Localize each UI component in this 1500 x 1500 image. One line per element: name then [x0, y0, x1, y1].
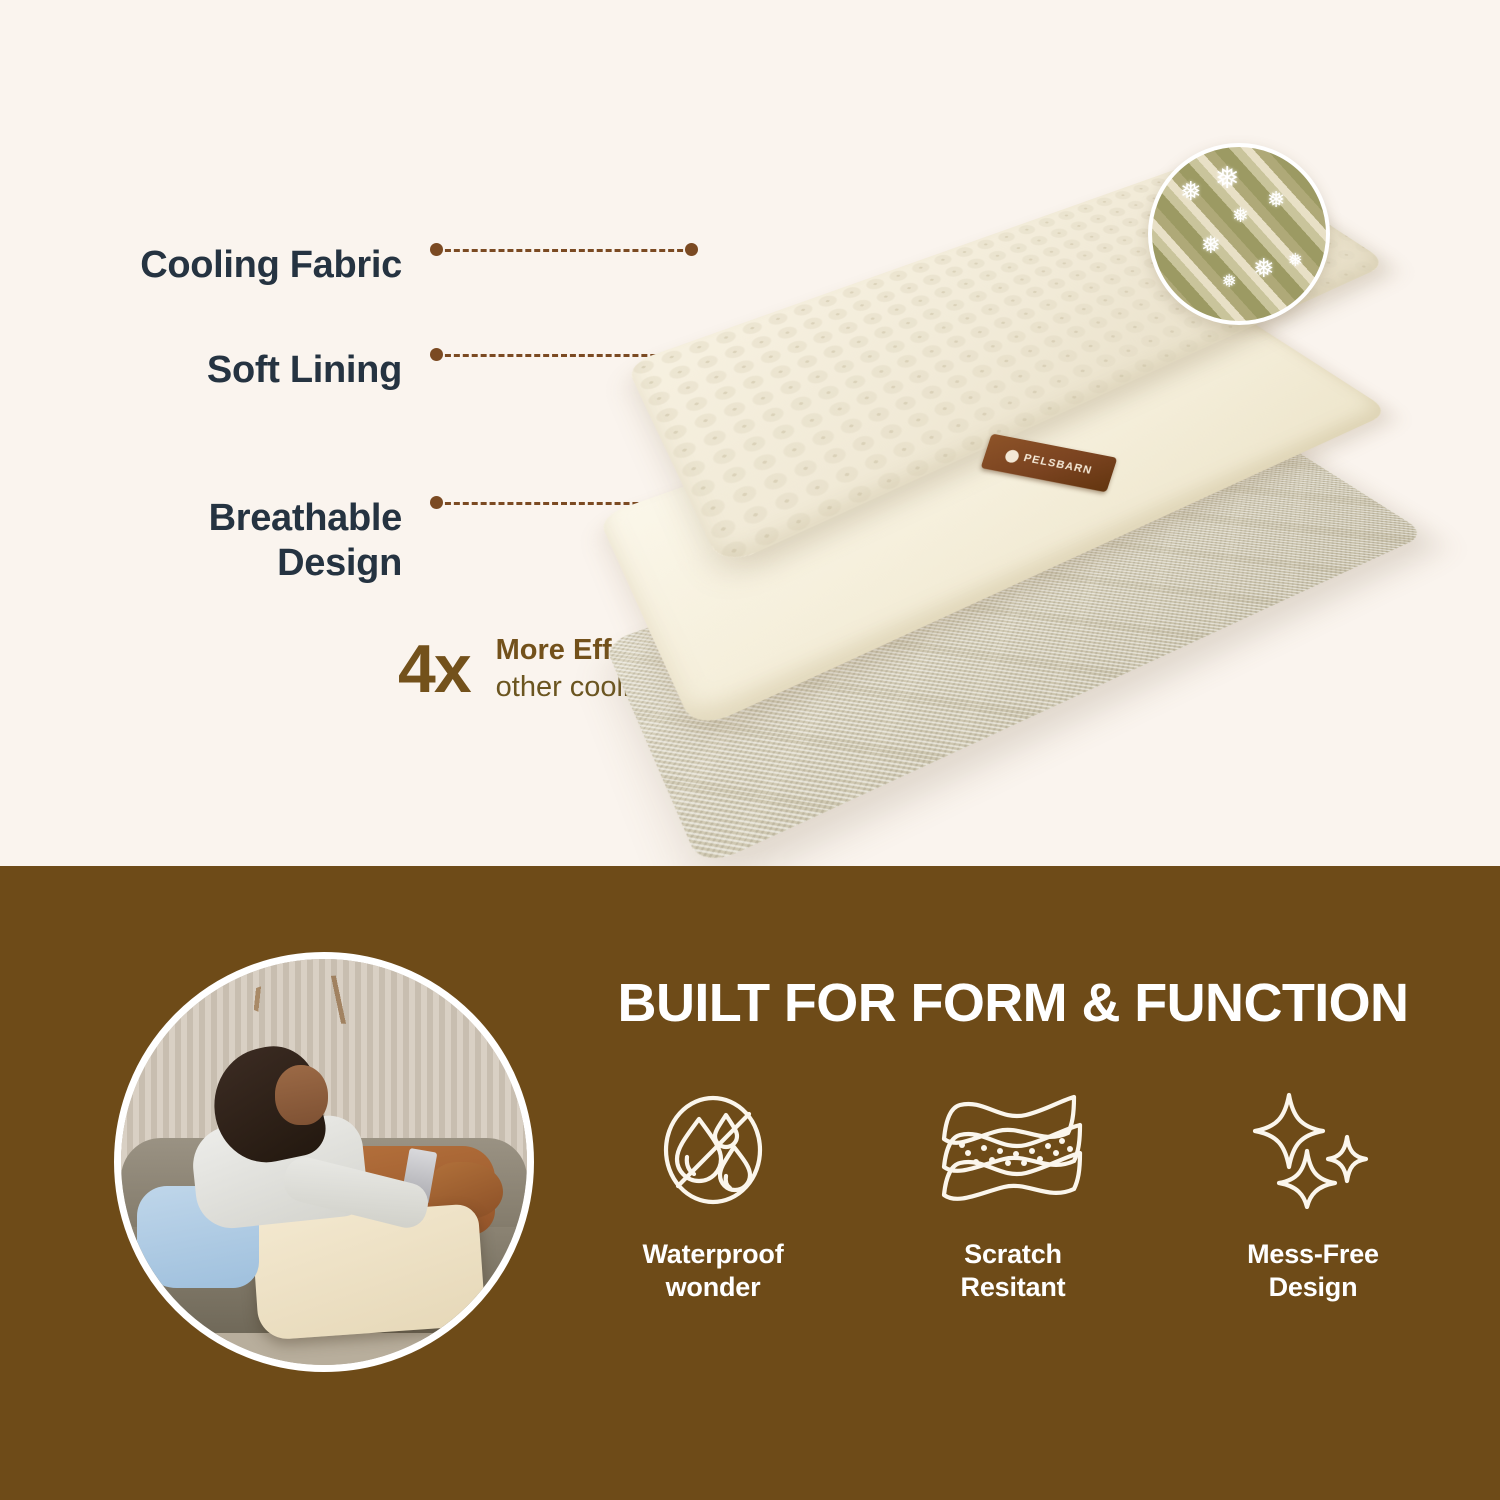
- snowflake-icon: ❅: [1288, 251, 1303, 269]
- snowflake-icon: ❅: [1232, 206, 1249, 226]
- snowflake-icon: ❅: [1215, 164, 1240, 194]
- snowflake-icon: ❅: [1180, 178, 1202, 204]
- snowflake-icon: ❅: [1222, 272, 1237, 290]
- photo-floor: [121, 1333, 527, 1365]
- form-and-function-section: BUILT FOR FORM & FUNCTION Waterproo: [0, 866, 1500, 1500]
- scratch-resistant-icon: [934, 1084, 1092, 1216]
- layers-breakdown-section: Cooling Fabric Soft Lining Breathable De…: [0, 0, 1500, 866]
- section-headline: BUILT FOR FORM & FUNCTION: [573, 976, 1453, 1030]
- feature-waterproof: Waterproof wonder: [573, 1084, 853, 1304]
- brand-logo-icon: [1004, 448, 1021, 463]
- callout-label-breathable-design: Breathable Design: [72, 496, 402, 586]
- snowflake-icon: ❅: [1253, 255, 1275, 281]
- feature-mess-free: Mess-Free Design: [1173, 1084, 1453, 1304]
- exploded-mat-layers: PELSBARN: [600, 120, 1500, 760]
- lifestyle-photo: [114, 952, 534, 1372]
- feature-list: Waterproof wonder: [573, 1084, 1453, 1304]
- callout-label-soft-lining: Soft Lining: [72, 348, 402, 393]
- feature-scratch-resistant: Scratch Resitant: [873, 1084, 1153, 1304]
- feature-label-waterproof: Waterproof wonder: [643, 1238, 784, 1304]
- product-infographic: Cooling Fabric Soft Lining Breathable De…: [0, 0, 1500, 1500]
- photo-cooling-mat: [251, 1203, 486, 1340]
- sparkle-icon: [1249, 1084, 1377, 1216]
- photo-wall-art: [243, 975, 478, 1024]
- effectiveness-multiplier: 4x: [398, 635, 470, 703]
- feature-label-mess-free: Mess-Free Design: [1247, 1238, 1379, 1304]
- callout-label-cooling-fabric: Cooling Fabric: [72, 243, 402, 288]
- cooling-fabric-magnifier: ❅ ❅ ❅ ❅ ❅ ❅ ❅ ❅: [1148, 143, 1330, 325]
- feature-label-scratch-resistant: Scratch Resitant: [961, 1238, 1066, 1304]
- photo-person-head: [275, 1065, 328, 1126]
- snowflake-icon: ❅: [1267, 189, 1285, 211]
- brand-name: PELSBARN: [1022, 452, 1094, 477]
- waterproof-icon: [654, 1084, 772, 1216]
- snowflake-icon: ❅: [1201, 234, 1221, 258]
